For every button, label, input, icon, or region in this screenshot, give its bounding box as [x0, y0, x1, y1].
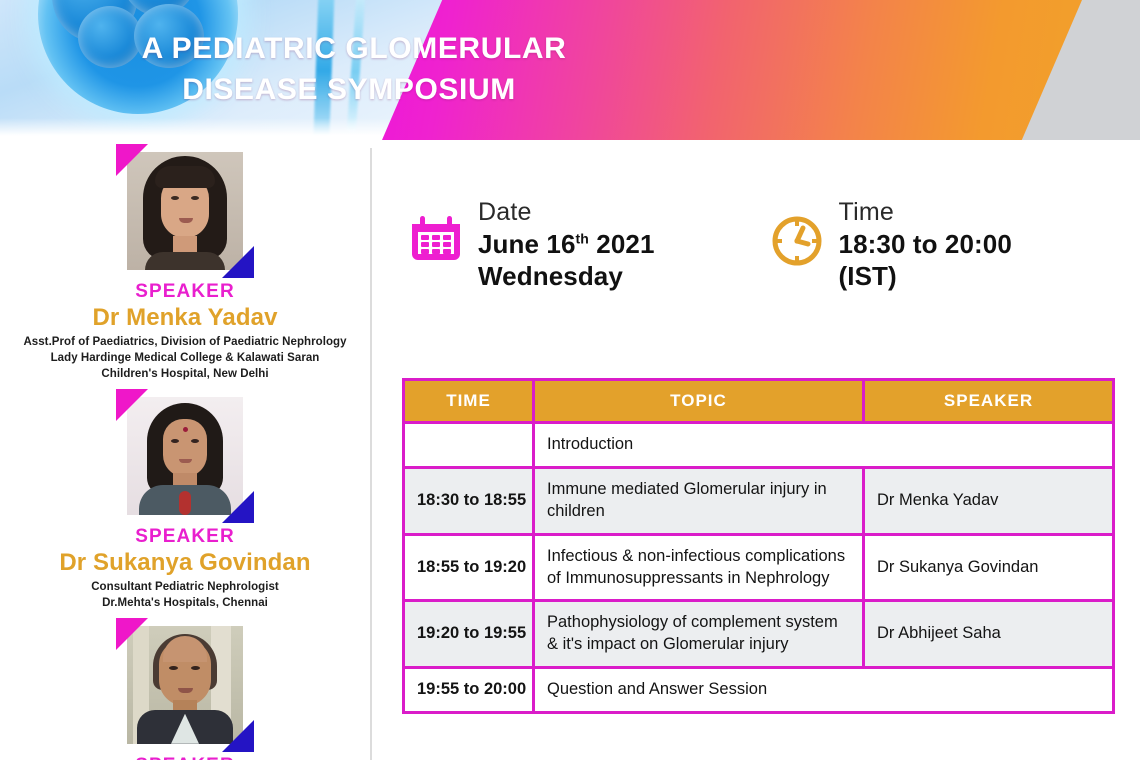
- cell-time: 19:55 to 20:00: [404, 667, 534, 712]
- speaker-affiliation-line: Children's Hospital, New Delhi: [8, 367, 362, 383]
- time-label: Time: [839, 198, 1012, 228]
- speaker-role-label: SPEAKER: [0, 282, 370, 303]
- poster-header: A Pediatric Glomerular Disease Symposium: [0, 0, 1140, 140]
- speaker-affiliation-line: Lady Hardinge Medical College & Kalawati…: [8, 351, 362, 367]
- speaker-photo-frame: [127, 626, 243, 744]
- cell-speaker: Dr Abhijeet Saha: [864, 601, 1114, 668]
- cell-time: 18:30 to 18:55: [404, 468, 534, 535]
- poster-title-line2: Disease Symposium: [182, 70, 516, 111]
- table-row: 18:55 to 19:20 Infectious & non-infectio…: [404, 534, 1114, 601]
- corner-triangle-blue-icon: [222, 246, 254, 278]
- speaker-role-label: SPEAKER: [0, 756, 370, 760]
- speaker-card: SPEAKER Dr Menka Yadav Asst.Prof of Paed…: [0, 140, 370, 383]
- speaker-affiliation-line: Asst.Prof of Paediatrics, Division of Pa…: [8, 335, 362, 351]
- date-value: June 16th 2021: [478, 228, 655, 261]
- clock-icon: [761, 198, 833, 270]
- cell-topic: Question and Answer Session: [534, 667, 1114, 712]
- speaker-name: Dr Sukanya Govindan: [0, 549, 370, 577]
- cell-topic: Pathophysiology of complement system & i…: [534, 601, 864, 668]
- speaker-role-label: SPEAKER: [0, 527, 370, 548]
- cell-topic: Introduction: [534, 423, 1114, 468]
- schedule-table-wrap: TIME TOPIC SPEAKER Introduction 18:30 to…: [402, 378, 1112, 714]
- corner-triangle-blue-icon: [222, 491, 254, 523]
- speaker-card: SPEAKER: [0, 612, 370, 760]
- poster-title: A Pediatric Glomerular Disease Symposium: [0, 0, 700, 140]
- column-header-speaker: SPEAKER: [864, 380, 1114, 423]
- speaker-affiliation: Consultant Pediatric Nephrologist Dr.Meh…: [0, 580, 370, 612]
- time-timezone: (IST): [839, 260, 1012, 293]
- speaker-card: SPEAKER Dr Sukanya Govindan Consultant P…: [0, 383, 370, 612]
- speaker-name: Dr Menka Yadav: [0, 304, 370, 332]
- table-row: 18:30 to 18:55 Immune mediated Glomerula…: [404, 468, 1114, 535]
- table-row: Introduction: [404, 423, 1114, 468]
- speaker-affiliation-line: Consultant Pediatric Nephrologist: [8, 580, 362, 596]
- corner-triangle-magenta-icon: [116, 144, 148, 176]
- main-content: Date June 16th 2021 Wednesday: [372, 140, 1140, 760]
- event-date-block: Date June 16th 2021 Wednesday: [400, 198, 655, 293]
- date-label: Date: [478, 198, 655, 228]
- cell-time: 18:55 to 19:20: [404, 534, 534, 601]
- speaker-column: SPEAKER Dr Menka Yadav Asst.Prof of Paed…: [0, 140, 370, 760]
- event-time-block: Time 18:30 to 20:00 (IST): [761, 198, 1012, 293]
- speaker-affiliation-line: Dr.Mehta's Hospitals, Chennai: [8, 596, 362, 612]
- date-year: 2021: [589, 229, 655, 259]
- date-month-day: June 16: [478, 229, 576, 259]
- time-value: 18:30 to 20:00: [839, 228, 1012, 261]
- cell-time: 19:20 to 19:55: [404, 601, 534, 668]
- date-weekday: Wednesday: [478, 260, 655, 293]
- event-meta-row: Date June 16th 2021 Wednesday: [400, 198, 1120, 293]
- event-date-text: Date June 16th 2021 Wednesday: [472, 198, 655, 293]
- table-row: 19:55 to 20:00 Question and Answer Sessi…: [404, 667, 1114, 712]
- poster-canvas: A Pediatric Glomerular Disease Symposium…: [0, 0, 1140, 760]
- date-ordinal: th: [576, 230, 589, 246]
- cell-speaker: Dr Sukanya Govindan: [864, 534, 1114, 601]
- column-header-time: TIME: [404, 380, 534, 423]
- cell-speaker: Dr Menka Yadav: [864, 468, 1114, 535]
- speaker-photo-frame: [127, 152, 243, 270]
- schedule-table: TIME TOPIC SPEAKER Introduction 18:30 to…: [402, 378, 1115, 714]
- cell-topic: Immune mediated Glomerular injury in chi…: [534, 468, 864, 535]
- cell-time: [404, 423, 534, 468]
- cell-topic: Infectious & non-infectious complication…: [534, 534, 864, 601]
- poster-title-line1: A Pediatric Glomerular: [142, 29, 567, 70]
- speaker-affiliation: Asst.Prof of Paediatrics, Division of Pa…: [0, 335, 370, 383]
- schedule-header-row: TIME TOPIC SPEAKER: [404, 380, 1114, 423]
- event-time-text: Time 18:30 to 20:00 (IST): [833, 198, 1012, 293]
- speaker-photo-frame: [127, 397, 243, 515]
- corner-triangle-magenta-icon: [116, 618, 148, 650]
- corner-triangle-magenta-icon: [116, 389, 148, 421]
- table-row: 19:20 to 19:55 Pathophysiology of comple…: [404, 601, 1114, 668]
- corner-triangle-blue-icon: [222, 720, 254, 752]
- column-header-topic: TOPIC: [534, 380, 864, 423]
- calendar-icon: [400, 198, 472, 270]
